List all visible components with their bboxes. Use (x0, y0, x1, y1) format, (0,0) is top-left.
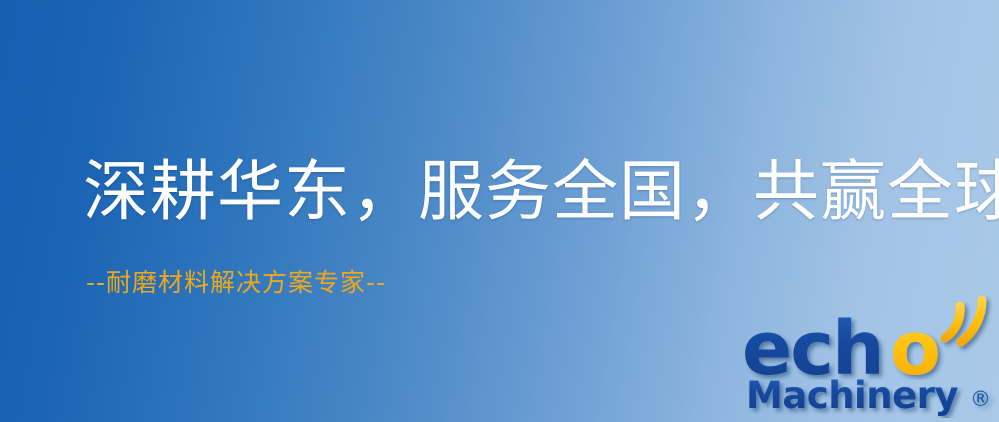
promo-banner: 深耕华东，服务全国，共赢全球 --耐磨材料解决方案专家-- (0, 0, 999, 422)
banner-headline: 深耕华东，服务全国，共赢全球 (83, 152, 999, 232)
echo-machinery-logo[interactable]: ech o Machinery ® (742, 296, 999, 422)
logo-machinery-text: Machinery (746, 374, 958, 417)
logo-sub-wordmark: Machinery ® (746, 372, 999, 418)
logo-letter-o: o (890, 306, 939, 380)
logo-wordmark: ech o (742, 296, 999, 380)
banner-subtitle: --耐磨材料解决方案专家-- (86, 266, 386, 300)
logo-letters-ech: ech (742, 306, 883, 380)
signal-arcs-icon (945, 300, 982, 342)
registered-trademark-icon: ® (970, 387, 991, 411)
